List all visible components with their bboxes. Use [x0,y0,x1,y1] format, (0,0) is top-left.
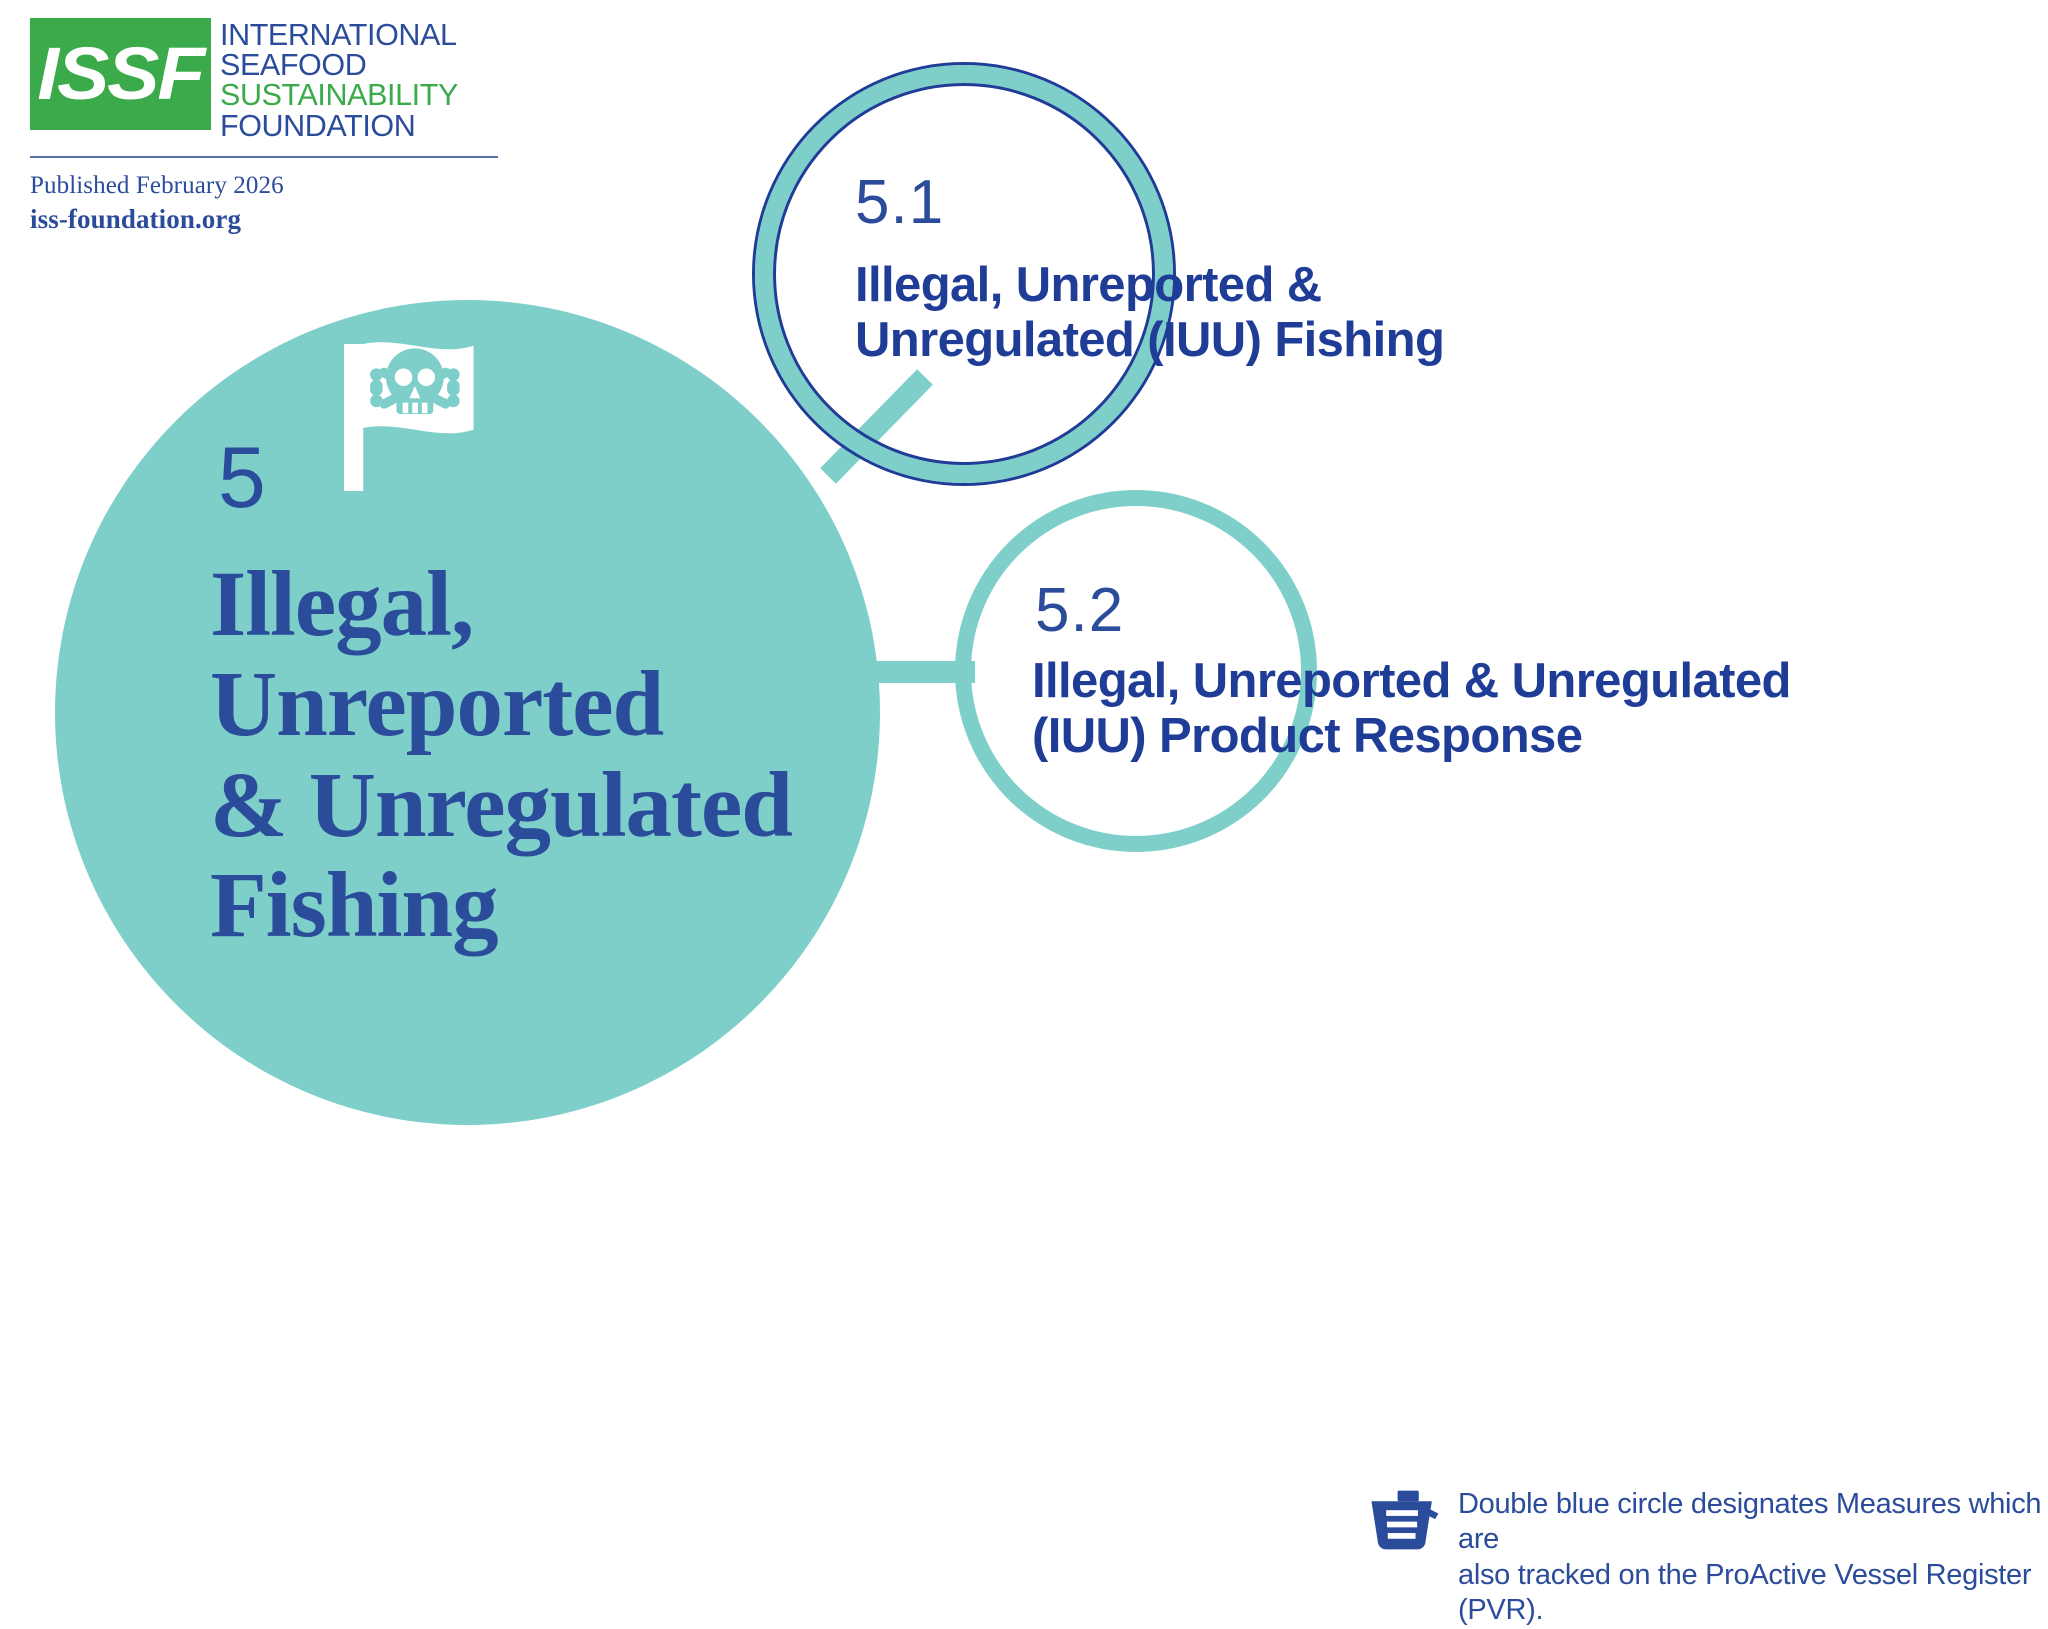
node-label-5-2: Illegal, Unreported & Unregulated (IUU) … [1032,654,1932,764]
legend-text: Double blue circle designates Measures w… [1458,1487,2048,1629]
hub-title: Illegal, Unreported & Unregulated Fishin… [210,555,950,957]
fishing-vessel-icon [1368,1489,1450,1551]
node-number-5-1: 5.1 [855,172,944,234]
measures-diagram: 5 Illegal, Unreported & Unregulated Fish… [0,0,2048,1583]
node-number-5-2: 5.2 [1035,580,1124,642]
hub-number: 5 [218,435,266,521]
node-label-5-1: Illegal, Unreported & Unregulated (IUU) … [855,258,1655,368]
pirate-flag-icon [330,330,505,505]
legend-pvr: Double blue circle designates Measures w… [1368,1487,2048,1629]
